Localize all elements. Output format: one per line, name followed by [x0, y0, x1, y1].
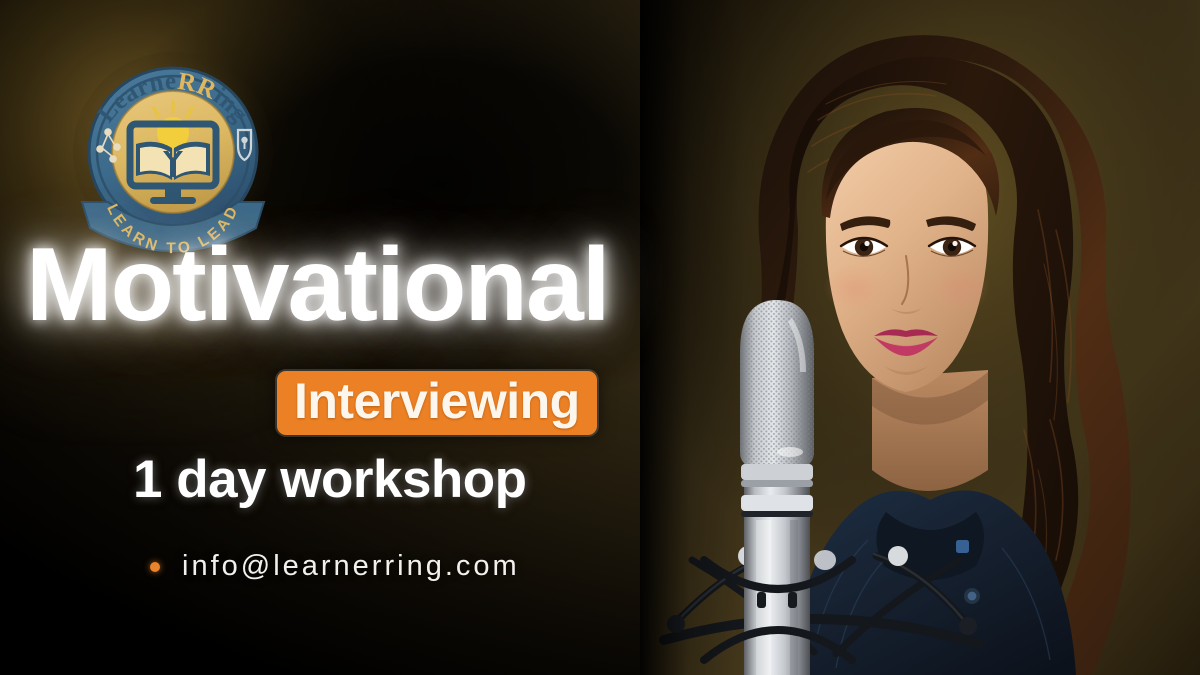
- contact-line: info@learnerring.com: [150, 550, 520, 583]
- poster-canvas: LearneRRing: [0, 0, 1200, 675]
- contact-email[interactable]: info@learnerring.com: [182, 550, 520, 583]
- page-title: Motivational: [26, 232, 609, 338]
- woman-with-microphone-photo: [640, 0, 1200, 675]
- interviewing-badge: Interviewing: [277, 371, 597, 435]
- orange-dot-icon: [150, 562, 160, 572]
- workshop-subtitle: 1 day workshop: [133, 452, 527, 508]
- interviewing-badge-label: Interviewing: [294, 376, 580, 426]
